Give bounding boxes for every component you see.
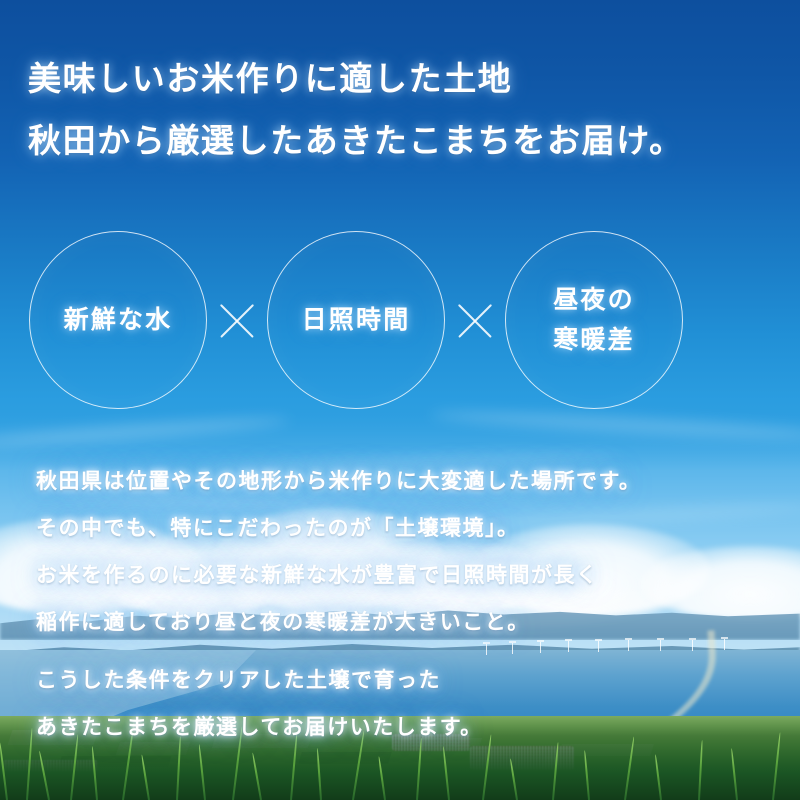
body-copy: 秋田県は位置やその地形から米作りに大変適した場所です。 その中でも、特にこだわっ… bbox=[36, 458, 776, 751]
body-line-1: 秋田県は位置やその地形から米作りに大変適した場所です。 bbox=[36, 458, 776, 505]
factor-label-fresh-water: 新鮮な水 bbox=[64, 300, 173, 340]
factor-label-temperature-range-1: 昼夜の bbox=[553, 280, 635, 320]
factor-circle-temperature-range: 昼夜の 寒暖差 bbox=[505, 231, 683, 409]
factor-label-sunshine-hours: 日照時間 bbox=[302, 300, 411, 340]
multiply-icon bbox=[207, 297, 267, 343]
headline-line-1: 美味しいお米作りに適した土地 bbox=[28, 48, 772, 110]
factor-circle-sunshine-hours: 日照時間 bbox=[267, 231, 445, 409]
factor-label-temperature-range-2: 寒暖差 bbox=[553, 320, 635, 360]
body-line-3: お米を作るのに必要な新鮮な水が豊富で日照時間が長く bbox=[36, 552, 776, 599]
body-line-6: あきたこまちを厳選してお届けいたします。 bbox=[36, 704, 776, 751]
multiply-icon bbox=[445, 297, 505, 343]
factor-circles: 新鮮な水 日照時間 昼夜の 寒暖差 bbox=[0, 230, 800, 410]
factor-circle-fresh-water: 新鮮な水 bbox=[29, 231, 207, 409]
body-line-5: こうした条件をクリアした土壌で育った bbox=[36, 657, 776, 704]
promotional-banner: 美味しいお米作りに適した土地 秋田から厳選したあきたこまちをお届け。 新鮮な水 … bbox=[0, 0, 800, 800]
body-line-2: その中でも、特にこだわったのが「土壌環境」。 bbox=[36, 505, 776, 552]
body-line-4: 稲作に適しており昼と夜の寒暖差が大きいこと。 bbox=[36, 599, 776, 646]
headline-line-2: 秋田から厳選したあきたこまちをお届け。 bbox=[28, 110, 772, 172]
headline: 美味しいお米作りに適した土地 秋田から厳選したあきたこまちをお届け。 bbox=[28, 48, 772, 172]
